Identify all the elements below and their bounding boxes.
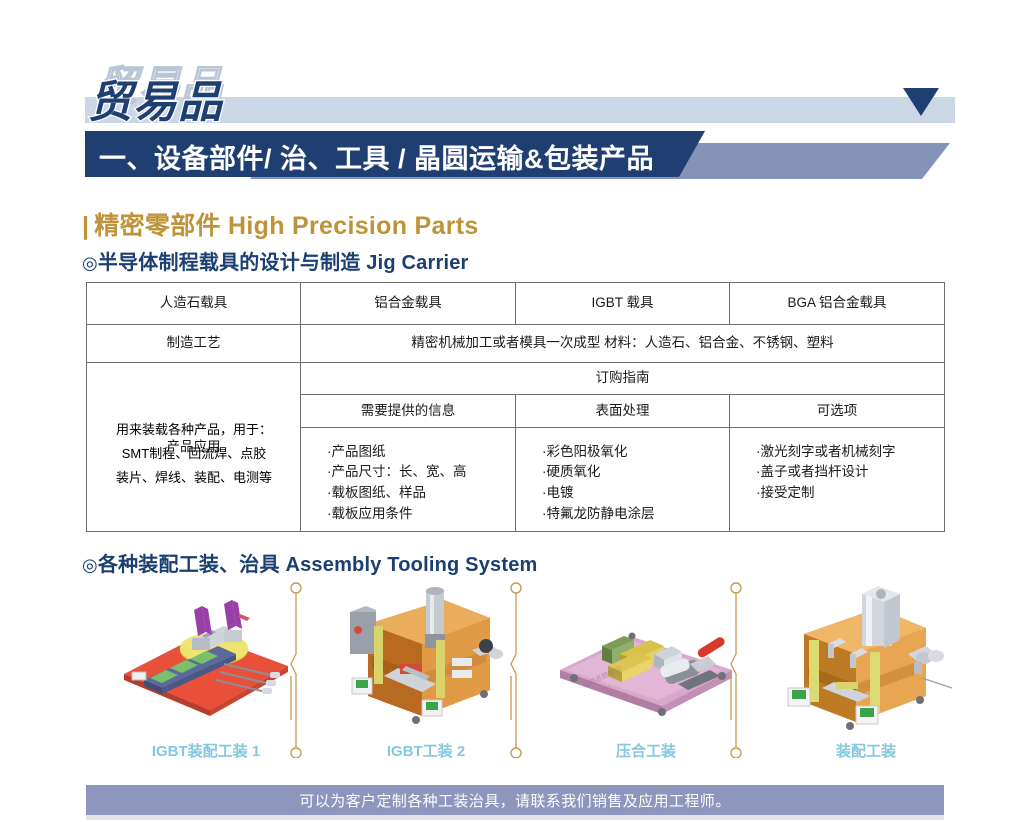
product-image-4 bbox=[766, 578, 966, 738]
table-cell-surface-list: ·彩色阳极氧化 ·硬质氧化 ·电镀 ·特氟龙防静电涂层 bbox=[516, 427, 730, 531]
divider-ornament-2 bbox=[504, 580, 528, 758]
footer-note-bar: 可以为客户定制各种工装治具，请联系我们销售及应用工程师。 bbox=[86, 785, 944, 815]
table-cell-carrier-bga: BGA 铝合金载具 bbox=[730, 283, 945, 325]
section-banner: 一、设备部件/ 治、工具 / 晶圆运输&包装产品 bbox=[0, 131, 1033, 186]
jig-carrier-heading-text: 半导体制程载具的设计与制造 Jig Carrier bbox=[98, 252, 469, 274]
igbt-assembly-fixture-1-icon bbox=[106, 578, 306, 738]
table-cell-options-header: 可选项 bbox=[730, 395, 945, 427]
product-image-1 bbox=[106, 578, 306, 738]
table-cell-required-info-header: 需要提供的信息 bbox=[301, 395, 516, 427]
circle-mark-icon: ◎ bbox=[82, 555, 98, 575]
product-gallery: IGBT装配工装 1 bbox=[86, 578, 944, 768]
bullet-item: ·激光刻字或者机械刻字 bbox=[756, 442, 938, 463]
bullet-item: ·载板图纸、样品 bbox=[327, 483, 509, 504]
divider-ornament-1 bbox=[284, 580, 308, 758]
banner-title: 一、设备部件/ 治、工具 / 晶圆运输&包装产品 bbox=[99, 137, 654, 176]
precision-parts-heading-text: 精密零部件 High Precision Parts bbox=[94, 212, 478, 240]
table-row: 人造石载具 铝合金载具 IGBT 载具 BGA 铝合金载具 bbox=[87, 283, 945, 325]
application-description: 用来装载各种产品，用于： SMT制程、回流焊、点胶 装片、焊线、装配、电测等 bbox=[88, 418, 300, 490]
footer-note-text: 可以为客户定制各种工装治具，请联系我们销售及应用工程师。 bbox=[299, 790, 730, 811]
triangle-down-icon bbox=[903, 88, 939, 116]
press-fit-fixture-icon: 公司名称标识 bbox=[546, 578, 746, 738]
assembly-tooling-heading-text: 各种装配工装、治具 Assembly Tooling System bbox=[98, 554, 538, 576]
table-cell-process-label: 制造工艺 bbox=[87, 325, 301, 363]
assembly-tooling-heading: ◎各种装配工装、治具 Assembly Tooling System bbox=[82, 548, 538, 577]
table-cell-surface-header: 表面处理 bbox=[516, 395, 730, 427]
table-cell-carrier-aluminum: 铝合金载具 bbox=[301, 283, 516, 325]
bullet-item: ·盖子或者挡杆设计 bbox=[756, 462, 938, 483]
application-line: 装片、焊线、装配、电测等 bbox=[88, 466, 300, 490]
bullet-item: ·载板应用条件 bbox=[327, 504, 509, 525]
logo-text: 贸易品 bbox=[88, 66, 223, 130]
table-row: 制造工艺 精密机械加工或者模具一次成型 材料：人造石、铝合金、不锈钢、塑料 bbox=[87, 325, 945, 363]
bullet-item: ·电镀 bbox=[542, 483, 723, 504]
bullet-item: ·产品尺寸：长、宽、高 bbox=[327, 462, 509, 483]
precision-parts-heading: |精密零部件 High Precision Parts bbox=[82, 206, 479, 242]
jig-carrier-spec-table: 人造石载具 铝合金载具 IGBT 载具 BGA 铝合金载具 制造工艺 精密机械加… bbox=[86, 282, 945, 532]
bullet-item: ·接受定制 bbox=[756, 483, 938, 504]
bullet-item: ·产品图纸 bbox=[327, 442, 509, 463]
table-cell-options-list: ·激光刻字或者机械刻字 ·盖子或者挡杆设计 ·接受定制 bbox=[730, 427, 945, 531]
igbt-fixture-2-icon bbox=[326, 578, 526, 738]
product-caption-4: 装配工装 bbox=[766, 740, 966, 761]
table-cell-process-value: 精密机械加工或者模具一次成型 材料：人造石、铝合金、不锈钢、塑料 bbox=[301, 325, 945, 363]
product-caption-1: IGBT装配工装 1 bbox=[106, 740, 306, 761]
table-cell-carrier-igbt: IGBT 载具 bbox=[516, 283, 730, 325]
table-row: 产品应用 订购指南 bbox=[87, 363, 945, 395]
product-caption-3: 压合工装 bbox=[546, 740, 746, 761]
header-logo-area: 贸易品 贸易品 bbox=[0, 0, 1033, 128]
product-caption-2: IGBT工装 2 bbox=[326, 740, 526, 761]
bullet-item: ·彩色阳极氧化 bbox=[542, 442, 723, 463]
table-cell-carrier-stone: 人造石载具 bbox=[87, 283, 301, 325]
circle-mark-icon: ◎ bbox=[82, 253, 98, 273]
application-line: SMT制程、回流焊、点胶 bbox=[88, 442, 300, 466]
bullet-item: ·特氟龙防静电涂层 bbox=[542, 504, 723, 525]
product-image-2 bbox=[326, 578, 526, 738]
heading-bar-icon: | bbox=[82, 212, 89, 240]
divider-ornament-3 bbox=[724, 580, 748, 758]
table-cell-order-guide: 订购指南 bbox=[301, 363, 945, 395]
footer-shadow bbox=[86, 815, 944, 820]
assembly-fixture-icon bbox=[766, 578, 966, 738]
application-line: 用来装载各种产品，用于： bbox=[88, 418, 300, 442]
bullet-item: ·硬质氧化 bbox=[542, 462, 723, 483]
product-image-3: 公司名称标识 bbox=[546, 578, 746, 738]
table-cell-required-info-list: ·产品图纸 ·产品尺寸：长、宽、高 ·载板图纸、样品 ·载板应用条件 bbox=[301, 427, 516, 531]
jig-carrier-heading: ◎半导体制程载具的设计与制造 Jig Carrier bbox=[82, 246, 469, 275]
